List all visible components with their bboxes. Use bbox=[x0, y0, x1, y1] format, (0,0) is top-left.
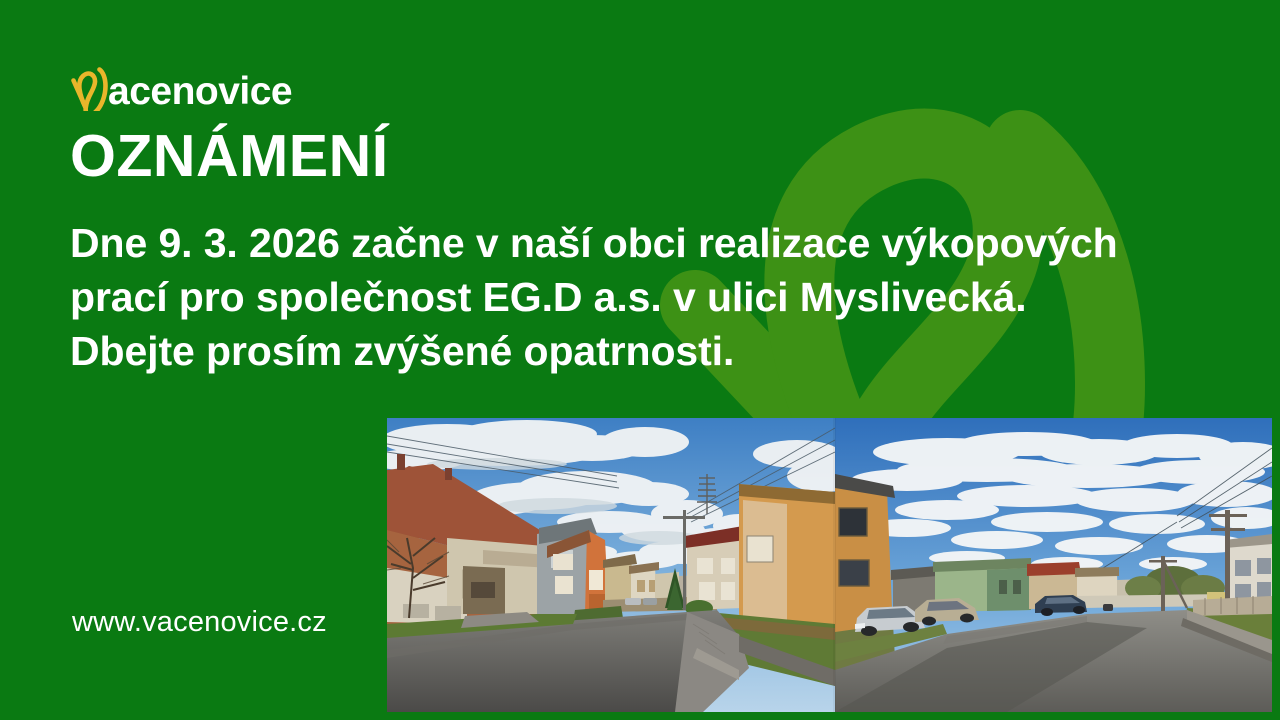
vacenovice-v-heart-mark bbox=[70, 65, 110, 111]
announcement-line-3: Dbejte prosím zvýšené opatrnosti. bbox=[70, 324, 1235, 378]
website-url[interactable]: www.vacenovice.cz bbox=[72, 606, 327, 639]
announcement-poster: acenovice OZNÁMENÍ Dne 9. 3. 2026 začne … bbox=[0, 0, 1280, 720]
announcement-line-1: Dne 9. 3. 2026 začne v naší obci realiza… bbox=[70, 216, 1235, 270]
site-logo[interactable]: acenovice bbox=[70, 62, 292, 114]
announcement-line-2: prací pro společnost EG.D a.s. v ulici M… bbox=[70, 270, 1235, 324]
street-photo bbox=[387, 418, 1272, 712]
page-title: OZNÁMENÍ bbox=[70, 127, 389, 186]
announcement-body: Dne 9. 3. 2026 začne v naší obci realiza… bbox=[70, 216, 1235, 378]
site-logo-text: acenovice bbox=[108, 72, 292, 111]
